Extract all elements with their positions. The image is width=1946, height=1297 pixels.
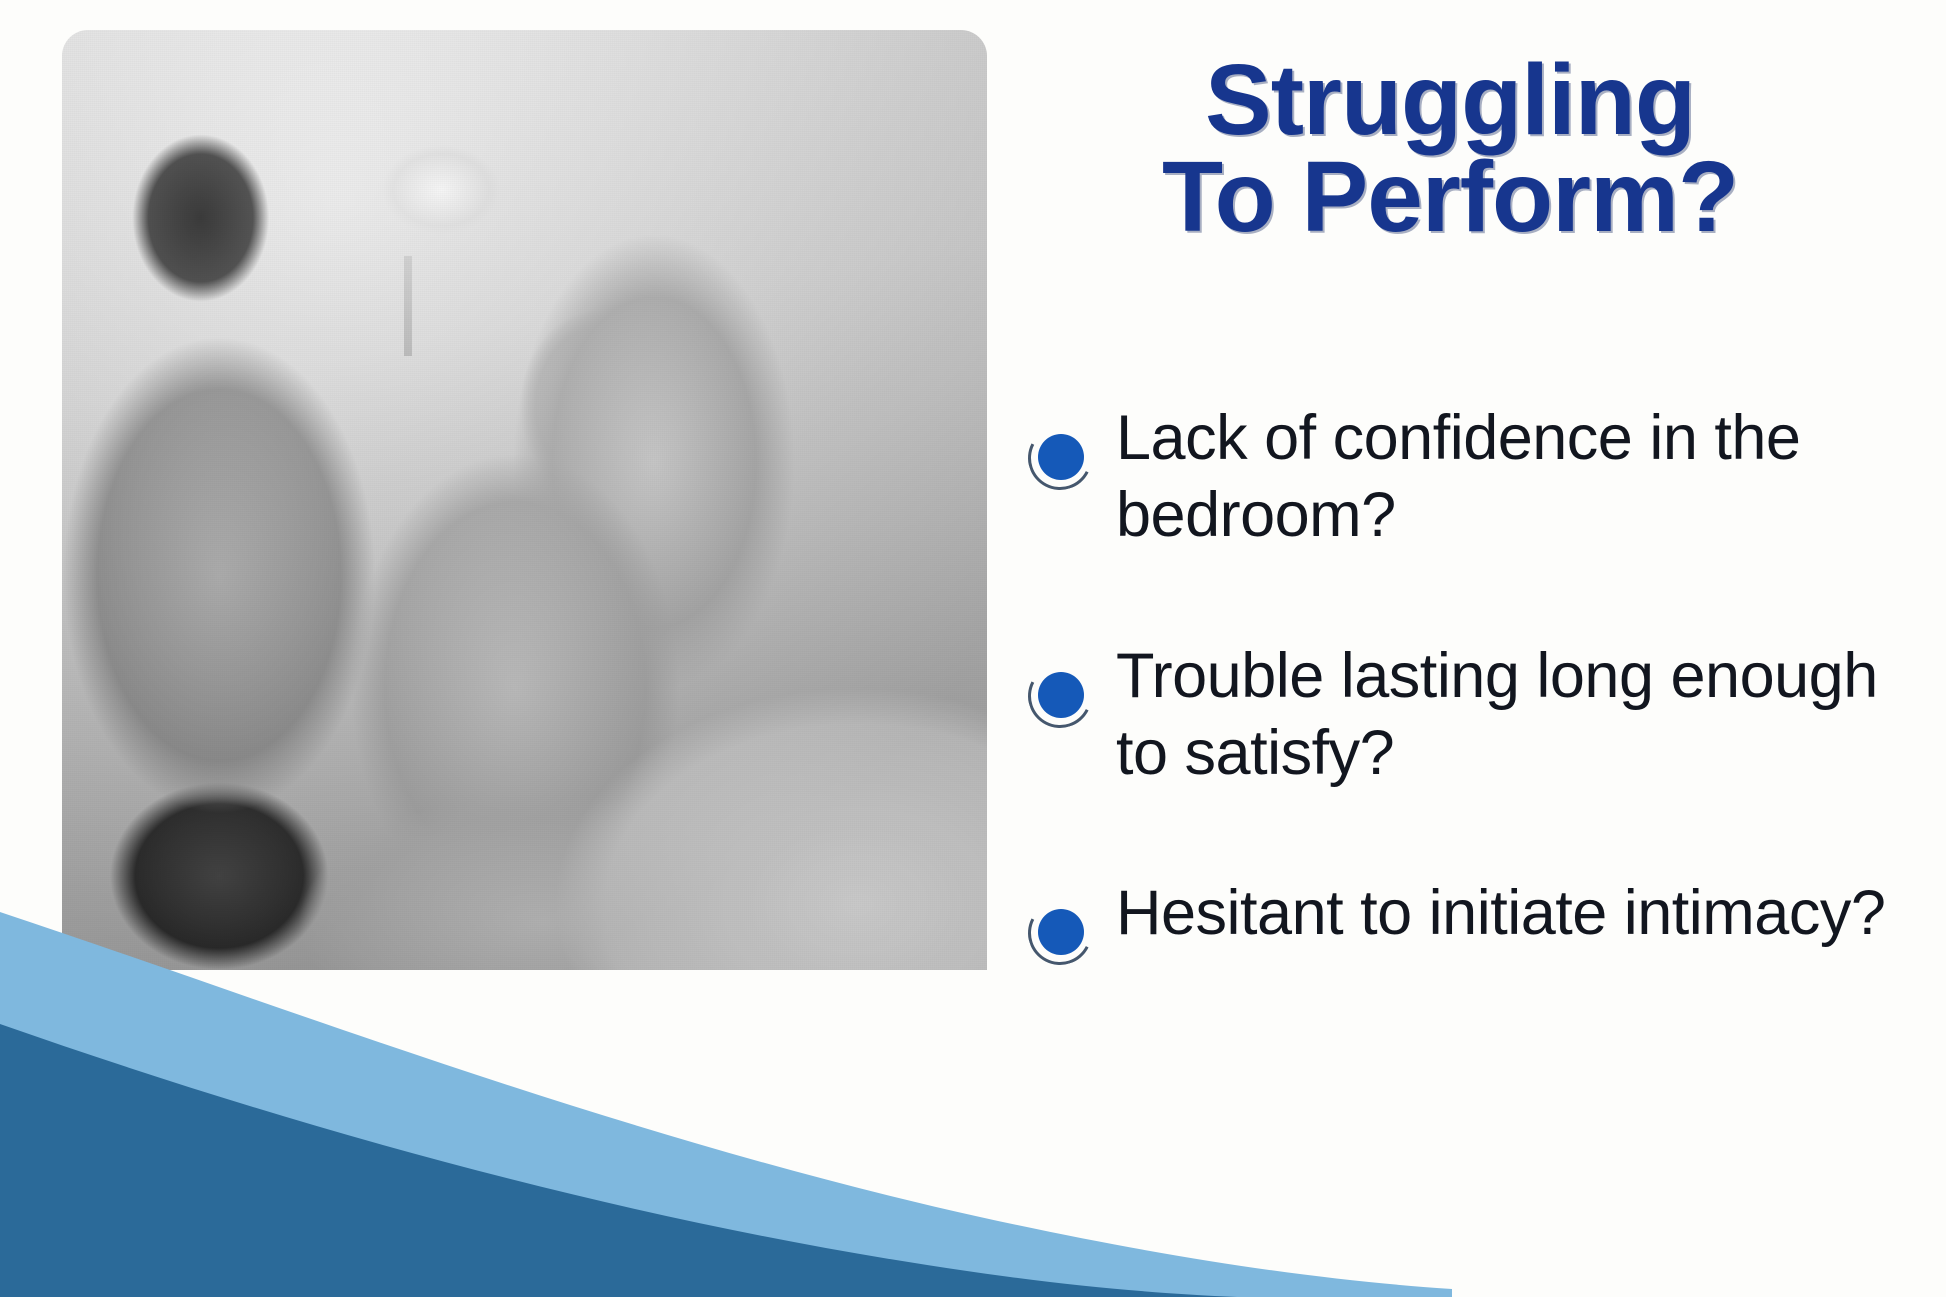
bullet-text: Trouble lasting long enough to satisfy? [1116, 638, 1916, 792]
list-item: Trouble lasting long enough to satisfy? [1028, 638, 1928, 792]
bullet-text: Lack of confidence in the bedroom? [1116, 400, 1916, 554]
bullet-dot [1038, 434, 1084, 480]
list-item: Hesitant to initiate intimacy? [1028, 875, 1928, 963]
bullet-text: Hesitant to initiate intimacy? [1116, 875, 1885, 952]
couple-photo [62, 30, 987, 970]
bullet-list: Lack of confidence in the bedroom? Troub… [1028, 400, 1928, 963]
bullet-circle-icon [1028, 901, 1090, 963]
page-title: Struggling To Perform? [1000, 52, 1900, 246]
bullet-dot [1038, 672, 1084, 718]
title-line-1: Struggling [1205, 44, 1695, 156]
content-column: Struggling To Perform? Lack of confidenc… [1000, 0, 1946, 1297]
list-item: Lack of confidence in the bedroom? [1028, 400, 1928, 554]
title-line-2: To Perform? [1000, 149, 1900, 246]
photo-grain-overlay [62, 30, 987, 970]
bullet-circle-icon [1028, 664, 1090, 726]
bullet-circle-icon [1028, 426, 1090, 488]
promo-slide: Struggling To Perform? Lack of confidenc… [0, 0, 1946, 1297]
